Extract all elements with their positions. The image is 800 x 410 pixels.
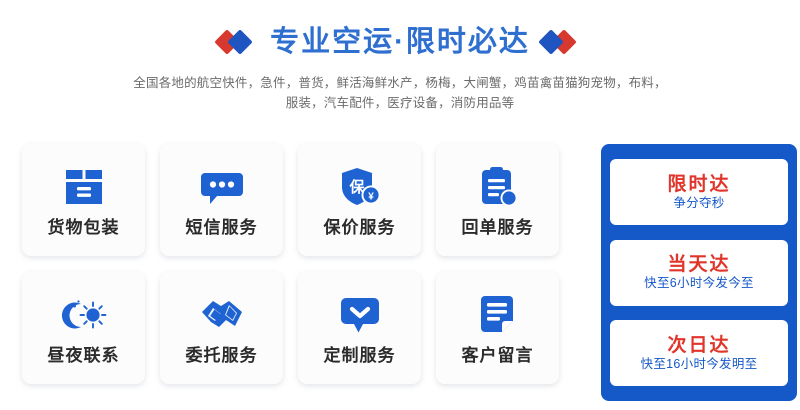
- speed-option-title: 次日达: [667, 336, 730, 355]
- service-card-entrust[interactable]: 委托服务: [160, 272, 283, 384]
- service-card-label: 定制服务: [324, 347, 396, 364]
- speed-option-subtitle: 快至16小时今发明至: [641, 358, 758, 371]
- speed-option-same-day[interactable]: 当天达 快至6小时今发今至: [610, 240, 788, 306]
- title-row: 专业空运·限时必达: [0, 22, 800, 62]
- svg-text:¥: ¥: [368, 191, 374, 202]
- double-diamond-icon-right: [540, 29, 584, 55]
- service-card-insurance[interactable]: 保 ¥ 保价服务: [298, 144, 421, 256]
- chat-bubble-chevron-icon: [337, 293, 383, 337]
- speed-option-title: 限时达: [667, 175, 730, 194]
- main-content: 货物包装 短信服务 保 ¥: [0, 140, 800, 410]
- service-card-label: 昼夜联系: [48, 347, 120, 364]
- service-card-label: 委托服务: [186, 347, 258, 364]
- page-title: 专业空运·限时必达: [270, 28, 530, 57]
- package-box-icon: [61, 165, 107, 209]
- delivery-speed-panel: 限时达 争分夺秒 当天达 快至6小时今发今至 次日达 快至16小时今发明至: [601, 144, 797, 401]
- service-cards-grid: 货物包装 短信服务 保 ¥: [22, 144, 582, 384]
- service-card-sms[interactable]: 短信服务: [160, 144, 283, 256]
- handshake-icon: [199, 293, 245, 337]
- moon-sun-icon: [61, 293, 107, 337]
- service-card-label: 短信服务: [186, 219, 258, 236]
- speed-option-next-day[interactable]: 次日达 快至16小时今发明至: [610, 320, 788, 386]
- service-card-label: 货物包装: [48, 219, 120, 236]
- subtitle-line-2: 服装，汽车配件，医疗设备，消防用品等: [0, 93, 800, 113]
- page-header: 专业空运·限时必达 全国各地的航空快件，急件，普货，鲜活海鲜水产，杨梅，大闸蟹，…: [0, 0, 800, 113]
- service-card-customer-message[interactable]: 客户留言: [436, 272, 559, 384]
- service-card-daynight-contact[interactable]: 昼夜联系: [22, 272, 145, 384]
- service-card-label: 回单服务: [462, 219, 534, 236]
- service-card-receipt[interactable]: 回单服务: [436, 144, 559, 256]
- subtitle-line-1: 全国各地的航空快件，急件，普货，鲜活海鲜水产，杨梅，大闸蟹，鸡苗禽苗猫狗宠物，布…: [0, 73, 800, 93]
- double-diamond-icon-left: [216, 29, 260, 55]
- speed-option-title: 当天达: [667, 255, 730, 274]
- service-card-label: 保价服务: [324, 219, 396, 236]
- speed-option-limited-time[interactable]: 限时达 争分夺秒: [610, 159, 788, 225]
- service-card-packaging[interactable]: 货物包装: [22, 144, 145, 256]
- speed-option-subtitle: 快至6小时今发今至: [644, 277, 754, 290]
- clipboard-receipt-icon: [475, 165, 521, 209]
- service-card-custom[interactable]: 定制服务: [298, 272, 421, 384]
- page-subtitle: 全国各地的航空快件，急件，普货，鲜活海鲜水产，杨梅，大闸蟹，鸡苗禽苗猫狗宠物，布…: [0, 73, 800, 113]
- document-note-icon: [475, 293, 521, 337]
- service-card-label: 客户留言: [462, 347, 534, 364]
- shield-insurance-yuan-icon: 保 ¥: [337, 165, 383, 209]
- chat-bubble-dots-icon: [199, 165, 245, 209]
- speed-option-subtitle: 争分夺秒: [673, 197, 724, 210]
